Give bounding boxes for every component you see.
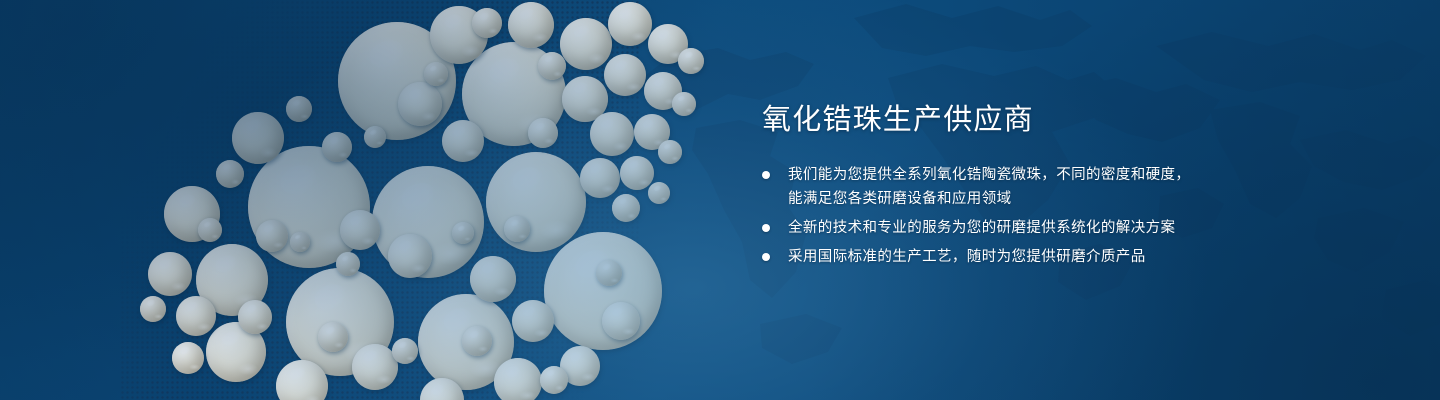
bullet-dot-icon bbox=[762, 171, 770, 179]
list-item-line: 采用国际标准的生产工艺，随时为您提供研磨介质产品 bbox=[788, 245, 1322, 269]
banner-copy: 氧化锆珠生产供应商 我们能为您提供全系列氧化锆陶瓷微珠，不同的密度和硬度， 能满… bbox=[762, 104, 1322, 269]
feature-list: 我们能为您提供全系列氧化锆陶瓷微珠，不同的密度和硬度， 能满足您各类研磨设备和应… bbox=[762, 163, 1322, 269]
list-item-line: 能满足您各类研磨设备和应用领域 bbox=[788, 187, 1322, 211]
list-item: 采用国际标准的生产工艺，随时为您提供研磨介质产品 bbox=[762, 245, 1322, 269]
list-item: 全新的技术和专业的服务为您的研磨提供系统化的解决方案 bbox=[762, 216, 1322, 240]
page-title: 氧化锆珠生产供应商 bbox=[762, 104, 1322, 137]
list-item: 我们能为您提供全系列氧化锆陶瓷微珠，不同的密度和硬度， 能满足您各类研磨设备和应… bbox=[762, 163, 1322, 211]
bullet-dot-icon bbox=[762, 253, 770, 261]
list-item-line: 我们能为您提供全系列氧化锆陶瓷微珠，不同的密度和硬度， bbox=[788, 163, 1322, 187]
hero-banner: 氧化锆珠生产供应商 我们能为您提供全系列氧化锆陶瓷微珠，不同的密度和硬度， 能满… bbox=[0, 0, 1440, 400]
bullet-dot-icon bbox=[762, 224, 770, 232]
list-item-line: 全新的技术和专业的服务为您的研磨提供系统化的解决方案 bbox=[788, 216, 1322, 240]
